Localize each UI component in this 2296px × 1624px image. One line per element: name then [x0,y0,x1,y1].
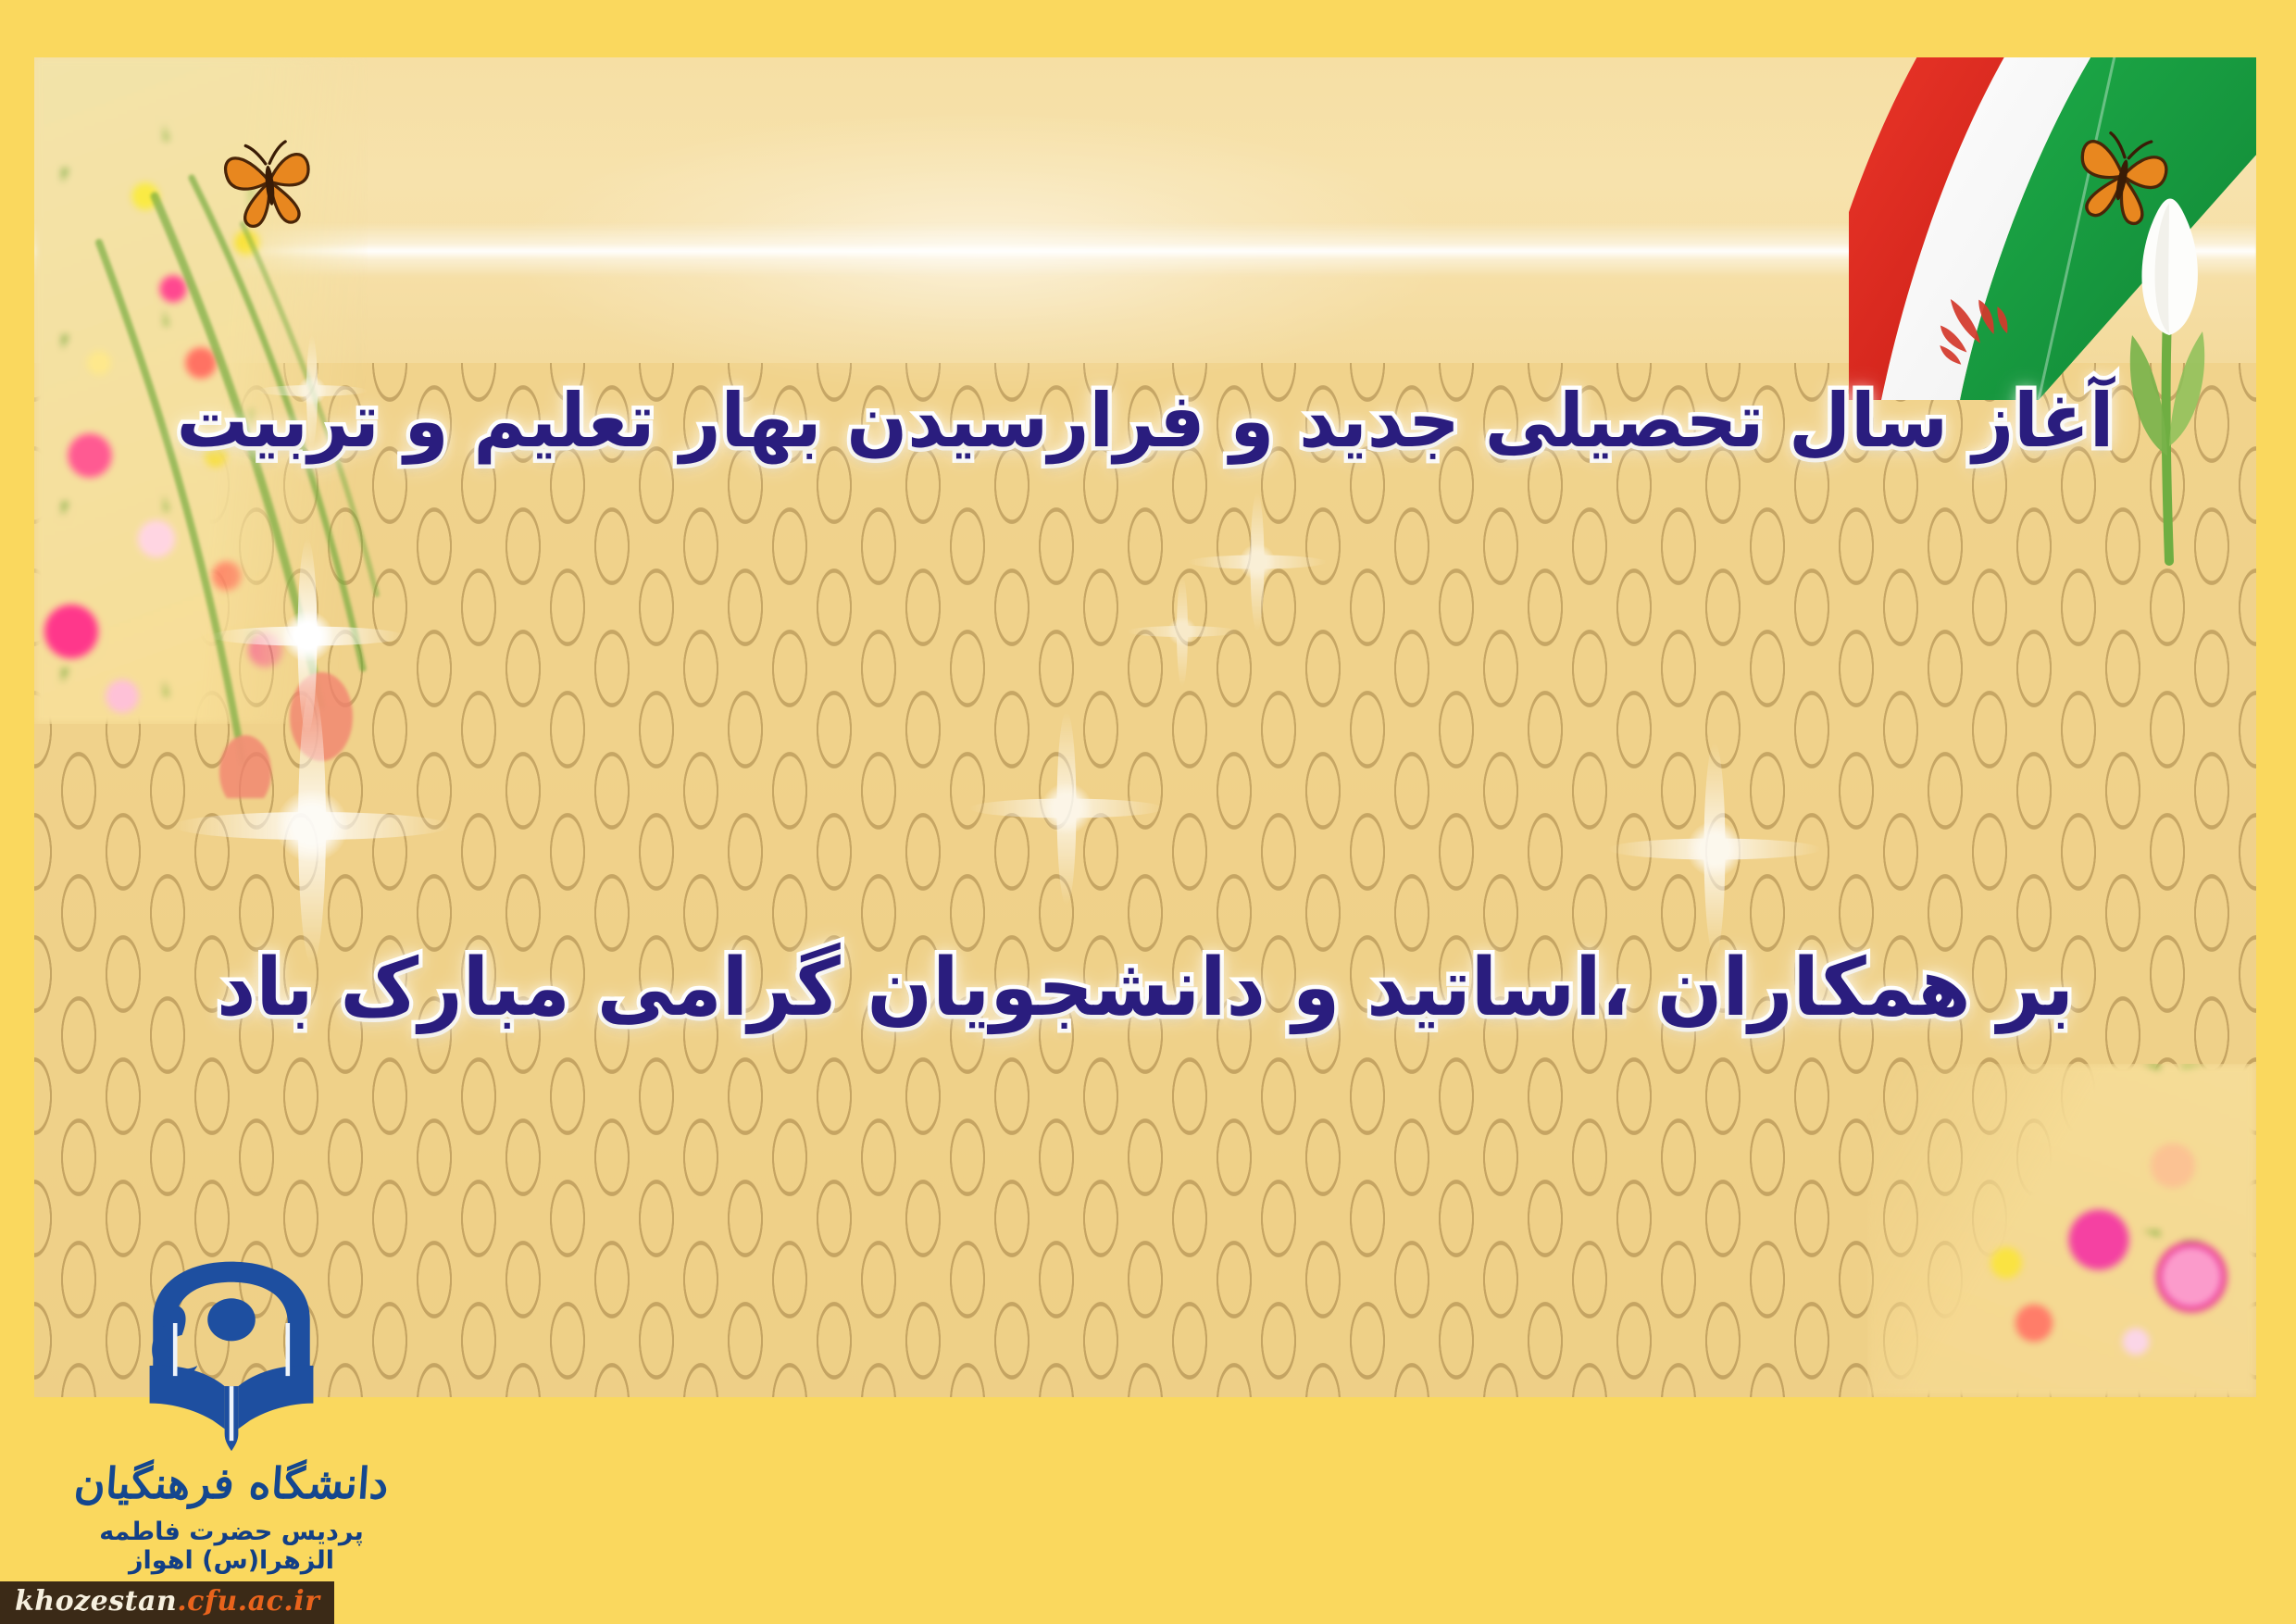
institution-identity-block: دانشگاه فرهنگیان پردیس حضرت فاطمه الزهرا… [37,1258,426,1615]
headline-line-1: آغاز سال تحصیلی جدید و فرارسیدن بهار تعل… [79,383,2212,457]
headline-block: آغاز سال تحصیلی جدید و فرارسیدن بهار تعل… [34,57,2256,1397]
greeting-banner: آغاز سال تحصیلی جدید و فرارسیدن بهار تعل… [0,0,2296,1624]
watermark-site-suffix: .cfu.ac.ir [177,1585,319,1618]
campus-name: پردیس حضرت فاطمه الزهرا(س) اهواز [37,1518,426,1575]
watermark-site-prefix: khozestan [15,1585,177,1618]
banner-inner-panel: آغاز سال تحصیلی جدید و فرارسیدن بهار تعل… [34,57,2256,1397]
site-watermark: khozestan.cfu.ac.ir [0,1581,334,1624]
open-book-arch-logo-icon [129,1258,334,1453]
headline-line-2: بر همکاران ،اساتید و دانشجویان گرامی مبا… [79,948,2212,1028]
university-name: دانشگاه فرهنگیان [35,1458,428,1508]
